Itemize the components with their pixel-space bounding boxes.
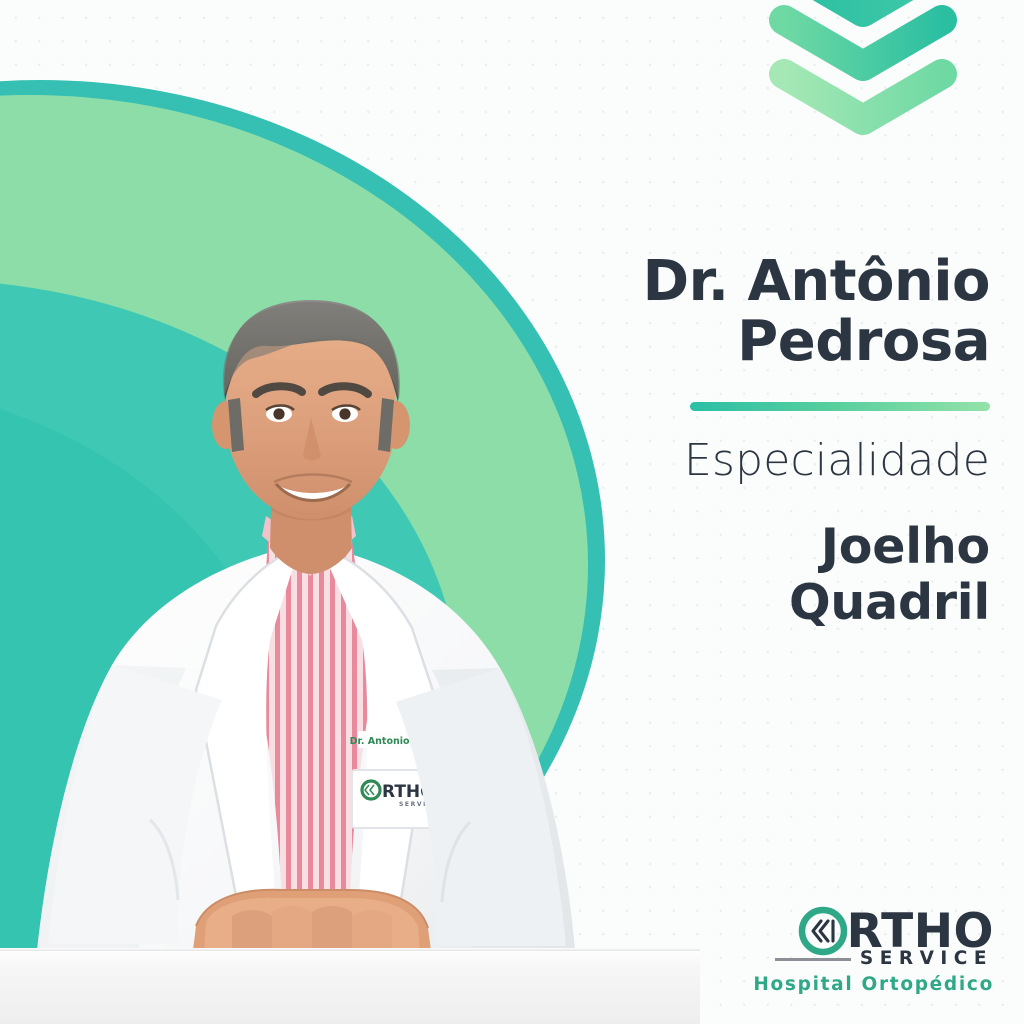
- ortho-chevron-mark-icon: [797, 905, 849, 957]
- logo-service-text: SERVICE: [860, 950, 993, 969]
- specialty-value: Joelho Quadril: [430, 519, 990, 631]
- specialty-label: Especialidade: [430, 437, 990, 485]
- chevron-down-decoration: [764, 0, 1024, 150]
- logo-rule: [775, 958, 851, 961]
- chevron-icon-1: [784, 0, 942, 12]
- ortho-service-logo: RTHO SERVICE Hospital Ortopédico: [753, 905, 994, 994]
- doctor-profile-card: Dr. Antonio Pedrosa RTHO SERVICE: [0, 0, 1024, 1024]
- logo-tagline: Hospital Ortopédico: [753, 976, 994, 995]
- doctor-info-panel: Dr. Antônio Pedrosa Especialidade Joelho…: [430, 252, 990, 631]
- gradient-divider: [690, 402, 990, 411]
- doctor-name: Dr. Antônio Pedrosa: [430, 252, 990, 372]
- logo-service-row: SERVICE: [753, 950, 993, 969]
- desk-edge: [0, 948, 700, 951]
- desk-surface: [0, 948, 700, 1024]
